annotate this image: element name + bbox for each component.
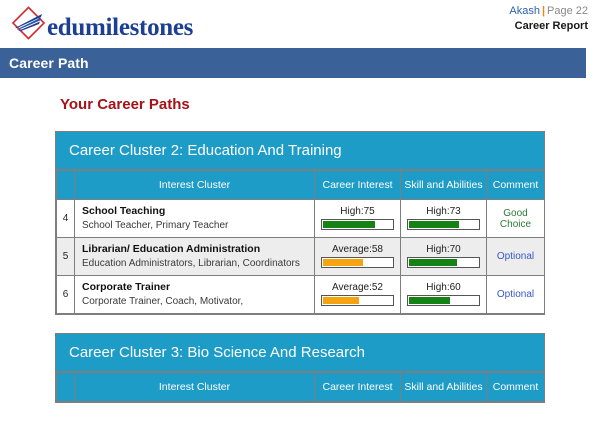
section-banner-title: Career Path bbox=[9, 55, 89, 71]
skill-abilities-bar bbox=[407, 257, 480, 268]
comment-text: Optional bbox=[497, 289, 534, 300]
comment-cell: Good Choice bbox=[487, 200, 545, 238]
career-cluster-card: Career Cluster 3: Bio Science And Resear… bbox=[55, 333, 545, 403]
comment-text: Good Choice bbox=[500, 208, 531, 230]
column-header-career-interest: Career Interest bbox=[315, 171, 401, 200]
career-cluster-card: Career Cluster 2: Education And Training… bbox=[55, 131, 545, 315]
career-interest-cell: High:75 bbox=[315, 200, 401, 238]
interest-cluster-cell: Librarian/ Education AdministrationEduca… bbox=[75, 238, 315, 276]
cluster-title: Career Cluster 3: Bio Science And Resear… bbox=[56, 334, 544, 372]
career-interest-label: Average:52 bbox=[321, 282, 394, 293]
meta-separator: | bbox=[540, 5, 547, 17]
skill-abilities-bar-fill bbox=[409, 259, 457, 266]
cluster-table: Interest ClusterCareer InterestSkill and… bbox=[56, 372, 545, 402]
interest-cluster-cell: School TeachingSchool Teacher, Primary T… bbox=[75, 200, 315, 238]
skill-abilities-label: High:70 bbox=[407, 244, 480, 255]
skill-abilities-bar-fill bbox=[409, 221, 459, 228]
main-content: Your Career Paths Career Cluster 2: Educ… bbox=[0, 78, 600, 403]
career-interest-bar-fill bbox=[323, 297, 359, 304]
skill-abilities-bar-fill bbox=[409, 297, 450, 304]
comment-text: Optional bbox=[497, 251, 534, 262]
interest-cluster-name: Librarian/ Education Administration bbox=[82, 243, 308, 255]
career-interest-label: High:75 bbox=[321, 206, 394, 217]
interest-cluster-name: Corporate Trainer bbox=[82, 281, 308, 293]
page-header: edumilestones Akash|Page 22 Career Repor… bbox=[0, 0, 600, 48]
row-index: 4 bbox=[57, 200, 75, 238]
career-interest-bar-fill bbox=[323, 259, 363, 266]
brand-name: edumilestones bbox=[47, 15, 193, 40]
column-header-skill-and-abilities: Skill and Abilities bbox=[401, 373, 487, 402]
column-header-comment: Comment bbox=[487, 373, 545, 402]
career-interest-bar bbox=[321, 295, 394, 306]
column-header-index bbox=[57, 373, 75, 402]
interest-cluster-roles: School Teacher, Primary Teacher bbox=[82, 220, 308, 231]
table-header-row: Interest ClusterCareer InterestSkill and… bbox=[57, 373, 545, 402]
brand-logo[interactable]: edumilestones bbox=[10, 6, 193, 42]
row-index: 6 bbox=[57, 276, 75, 314]
table-row: 6Corporate TrainerCorporate Trainer, Coa… bbox=[57, 276, 545, 314]
column-header-interest-cluster: Interest Cluster bbox=[75, 171, 315, 200]
column-header-interest-cluster: Interest Cluster bbox=[75, 373, 315, 402]
skill-abilities-cell: High:73 bbox=[401, 200, 487, 238]
cluster-list: Career Cluster 2: Education And Training… bbox=[55, 131, 600, 403]
header-meta: Akash|Page 22 Career Report bbox=[509, 4, 588, 34]
interest-cluster-roles: Education Administrators, Librarian, Coo… bbox=[82, 258, 308, 269]
table-row: 5Librarian/ Education AdministrationEduc… bbox=[57, 238, 545, 276]
user-name: Akash bbox=[509, 5, 540, 17]
career-interest-bar bbox=[321, 219, 394, 230]
skill-abilities-label: High:60 bbox=[407, 282, 480, 293]
skill-abilities-bar bbox=[407, 219, 480, 230]
cluster-title: Career Cluster 2: Education And Training bbox=[56, 132, 544, 170]
column-header-skill-and-abilities: Skill and Abilities bbox=[401, 171, 487, 200]
column-header-career-interest: Career Interest bbox=[315, 373, 401, 402]
cluster-table: Interest ClusterCareer InterestSkill and… bbox=[56, 170, 545, 314]
career-interest-bar bbox=[321, 257, 394, 268]
table-header-row: Interest ClusterCareer InterestSkill and… bbox=[57, 171, 545, 200]
table-row: 4School TeachingSchool Teacher, Primary … bbox=[57, 200, 545, 238]
comment-cell: Optional bbox=[487, 238, 545, 276]
interest-cluster-name: School Teaching bbox=[82, 205, 308, 217]
diamond-swoosh-logo-icon bbox=[10, 6, 50, 42]
skill-abilities-label: High:73 bbox=[407, 206, 480, 217]
row-index: 5 bbox=[57, 238, 75, 276]
interest-cluster-roles: Corporate Trainer, Coach, Motivator, bbox=[82, 296, 308, 307]
skill-abilities-cell: High:60 bbox=[401, 276, 487, 314]
comment-cell: Optional bbox=[487, 276, 545, 314]
career-interest-bar-fill bbox=[323, 221, 375, 228]
column-header-comment: Comment bbox=[487, 171, 545, 200]
page-number: Page 22 bbox=[547, 5, 588, 17]
skill-abilities-cell: High:70 bbox=[401, 238, 487, 276]
column-header-index bbox=[57, 171, 75, 200]
career-interest-cell: Average:58 bbox=[315, 238, 401, 276]
career-interest-cell: Average:52 bbox=[315, 276, 401, 314]
skill-abilities-bar bbox=[407, 295, 480, 306]
section-banner: Career Path bbox=[0, 48, 586, 78]
report-title: Career Report bbox=[509, 19, 588, 34]
header-user-page: Akash|Page 22 bbox=[509, 4, 588, 19]
career-interest-label: Average:58 bbox=[321, 244, 394, 255]
page-title: Your Career Paths bbox=[60, 96, 600, 113]
interest-cluster-cell: Corporate TrainerCorporate Trainer, Coac… bbox=[75, 276, 315, 314]
